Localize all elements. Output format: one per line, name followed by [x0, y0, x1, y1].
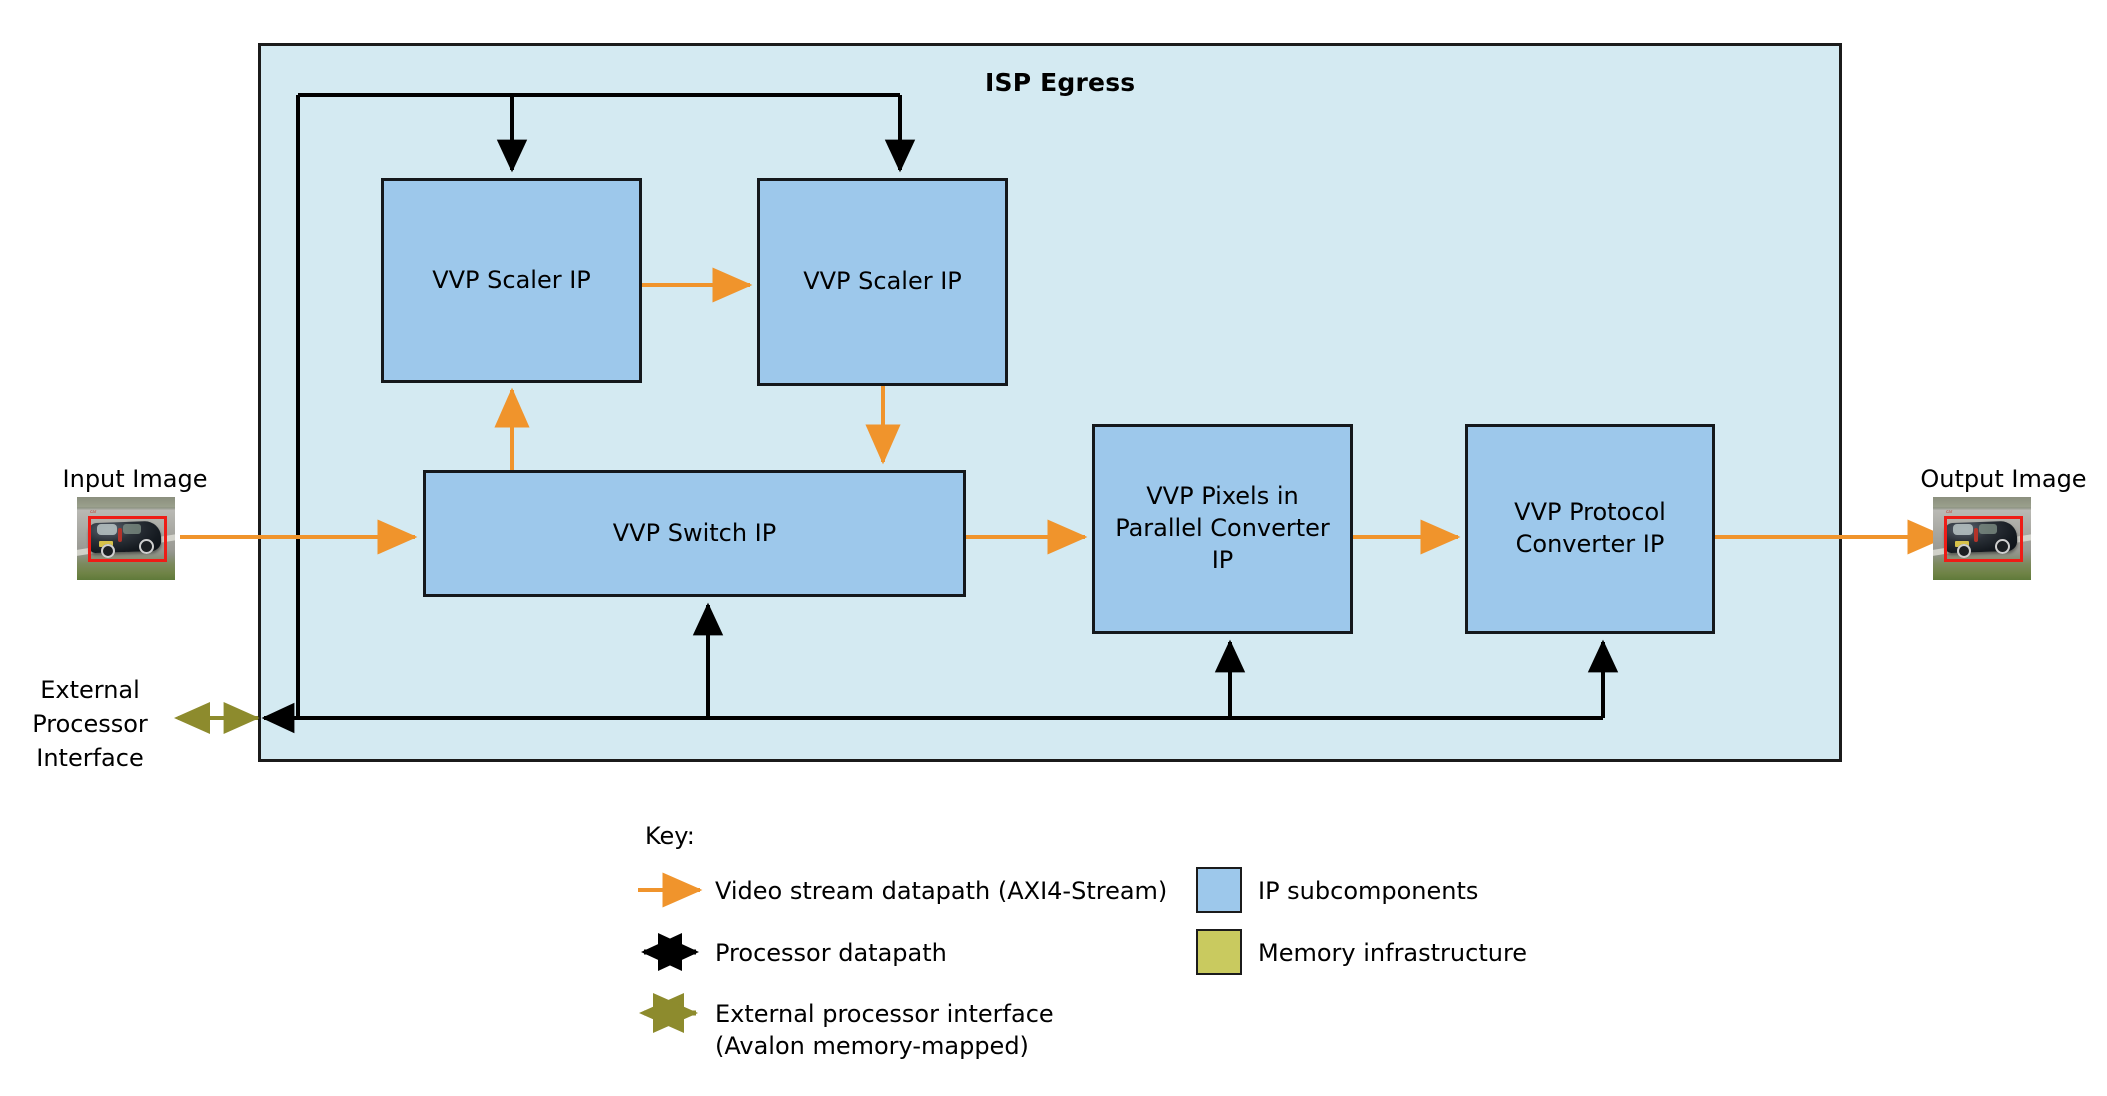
key-arrow-glyphs [0, 0, 2107, 1096]
key-swatch-memory-infrastructure [1196, 929, 1242, 975]
diagram-canvas: ISP Egress [0, 0, 2107, 1096]
key-label-processor-datapath: Processor datapath [715, 937, 1235, 969]
key-label-memory-infrastructure: Memory infrastructure [1258, 937, 1718, 969]
key-label-video-datapath: Video stream datapath (AXI4-Stream) [715, 875, 1235, 907]
key-label-external-processor-interface: External processor interface (Avalon mem… [715, 998, 1275, 1063]
key-label-ip-subcomponents: IP subcomponents [1258, 875, 1678, 907]
key-swatch-ip-subcomponents [1196, 867, 1242, 913]
